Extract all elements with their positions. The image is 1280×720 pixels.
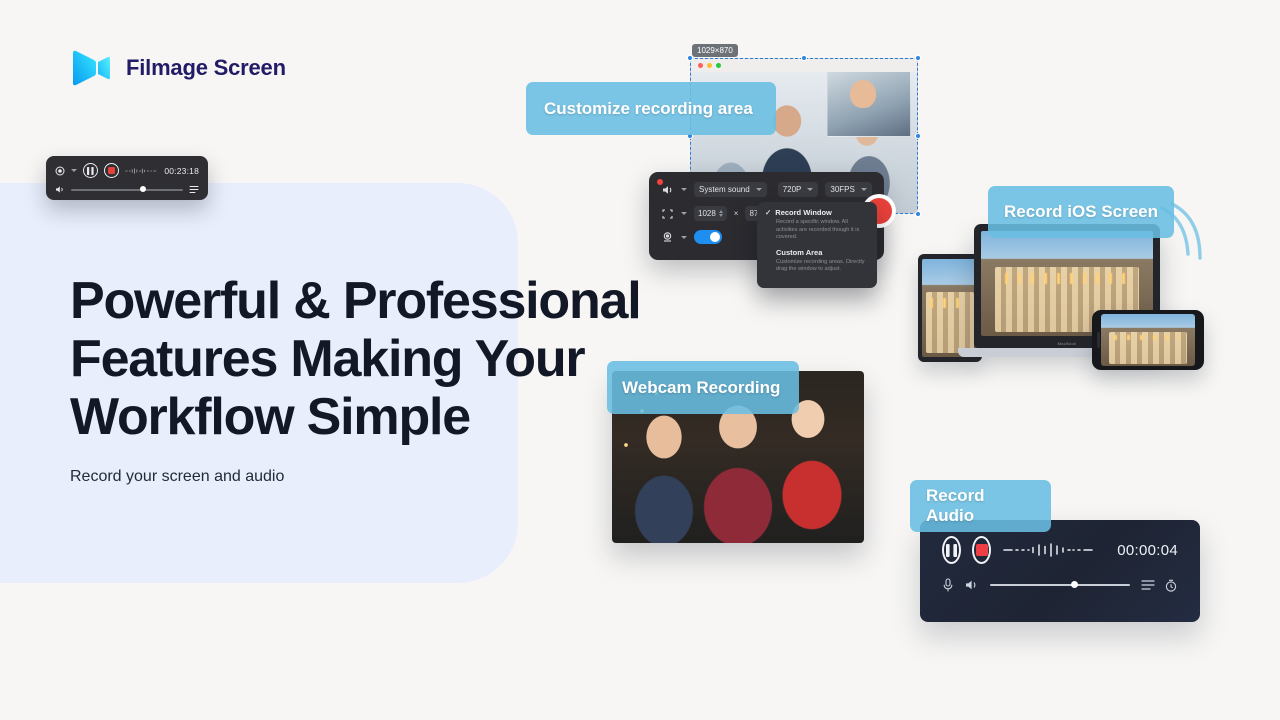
chip-customize-recording-area: Customize recording area xyxy=(526,82,776,135)
dimension-separator: × xyxy=(734,209,739,218)
brand-logo[interactable]: Filmage Screen xyxy=(70,49,286,87)
brand-name: Filmage Screen xyxy=(126,55,286,81)
dropdown-item-title: Record Window xyxy=(775,208,832,217)
audio-volume-slider[interactable] xyxy=(990,584,1130,586)
webcam-icon[interactable] xyxy=(661,231,674,243)
dropdown-item-description: Customize recording areas. Directly drag… xyxy=(765,259,869,274)
chevron-down-icon[interactable] xyxy=(71,169,77,172)
dropdown-item-custom-area[interactable]: Custom Area Customize recording areas. D… xyxy=(765,248,869,274)
chevron-down-icon xyxy=(861,188,867,191)
chip-webcam-recording: Webcam Recording xyxy=(607,361,799,414)
speaker-icon[interactable] xyxy=(965,579,979,591)
resize-handle-tc[interactable] xyxy=(801,55,807,61)
chevron-down-icon xyxy=(756,188,762,191)
capture-width-value: 1028 xyxy=(698,209,716,218)
webcam-control-bar: 00:23:18 xyxy=(46,156,208,200)
page-root: Filmage Screen Powerful & Professional F… xyxy=(0,0,1280,720)
device-tablet xyxy=(918,254,982,362)
page-subtitle: Record your screen and audio xyxy=(70,468,284,486)
chip-label: Record Audio xyxy=(926,486,1035,526)
stepper-icon[interactable] xyxy=(719,210,723,217)
pause-icon[interactable] xyxy=(83,163,98,178)
resize-handle-mr[interactable] xyxy=(915,133,921,139)
dropdown-item-record-window[interactable]: ✓ Record Window Record a specific window… xyxy=(765,208,869,242)
chevron-down-icon xyxy=(807,188,813,191)
speaker-icon[interactable] xyxy=(55,185,65,194)
webcam-toggle[interactable] xyxy=(694,230,722,244)
dropdown-item-description: Record a specific window. All activities… xyxy=(765,219,869,242)
close-icon[interactable] xyxy=(698,63,703,68)
selection-size-label: 1029×870 xyxy=(692,44,738,57)
audio-recorder-panel: 00:00:04 xyxy=(920,520,1200,622)
chip-record-ios-screen: Record iOS Screen xyxy=(988,186,1174,238)
chip-label: Record iOS Screen xyxy=(1004,202,1158,222)
timer-icon[interactable] xyxy=(1164,579,1178,592)
framerate-value: 30FPS xyxy=(830,185,854,194)
framerate-select[interactable]: 30FPS xyxy=(825,182,871,197)
camera-source-icon[interactable] xyxy=(55,166,65,176)
check-icon: ✓ xyxy=(765,208,771,217)
microphone-icon[interactable] xyxy=(942,578,954,592)
list-icon[interactable] xyxy=(189,185,199,194)
waveform-icon xyxy=(1002,543,1106,557)
device-phone xyxy=(1092,310,1204,370)
stop-record-icon[interactable] xyxy=(972,536,991,564)
chevron-down-icon[interactable] xyxy=(681,188,687,191)
dropdown-item-title: Custom Area xyxy=(776,248,822,257)
chevron-down-icon[interactable] xyxy=(681,236,687,239)
pause-icon[interactable] xyxy=(942,536,961,564)
record-mode-dropdown: ✓ Record Window Record a specific window… xyxy=(757,202,877,288)
audio-source-select[interactable]: System sound xyxy=(694,182,767,197)
resolution-value: 720P xyxy=(783,185,802,194)
waveform-icon xyxy=(125,166,158,176)
speaker-icon[interactable] xyxy=(661,184,674,196)
resize-handle-tr[interactable] xyxy=(915,55,921,61)
chip-label: Webcam Recording xyxy=(622,378,780,398)
audio-timer: 00:00:04 xyxy=(1117,542,1178,559)
video-camera-icon xyxy=(70,49,112,87)
resolution-select[interactable]: 720P xyxy=(778,182,819,197)
stop-record-icon[interactable] xyxy=(104,163,119,178)
chip-record-audio: Record Audio xyxy=(910,480,1051,532)
chip-label: Customize recording area xyxy=(544,99,753,119)
capture-width-input[interactable]: 1028 xyxy=(694,206,727,221)
maximize-icon[interactable] xyxy=(716,63,721,68)
minimize-icon[interactable] xyxy=(707,63,712,68)
volume-slider[interactable] xyxy=(71,189,183,191)
list-icon[interactable] xyxy=(1141,579,1155,592)
webcam-timer: 00:23:18 xyxy=(164,166,199,176)
audio-source-value: System sound xyxy=(699,185,750,194)
chevron-down-icon[interactable] xyxy=(681,212,687,215)
crop-icon[interactable] xyxy=(661,208,674,220)
video-tile-thumbnail xyxy=(827,71,911,137)
page-title: Powerful & Professional Features Making … xyxy=(70,272,690,446)
